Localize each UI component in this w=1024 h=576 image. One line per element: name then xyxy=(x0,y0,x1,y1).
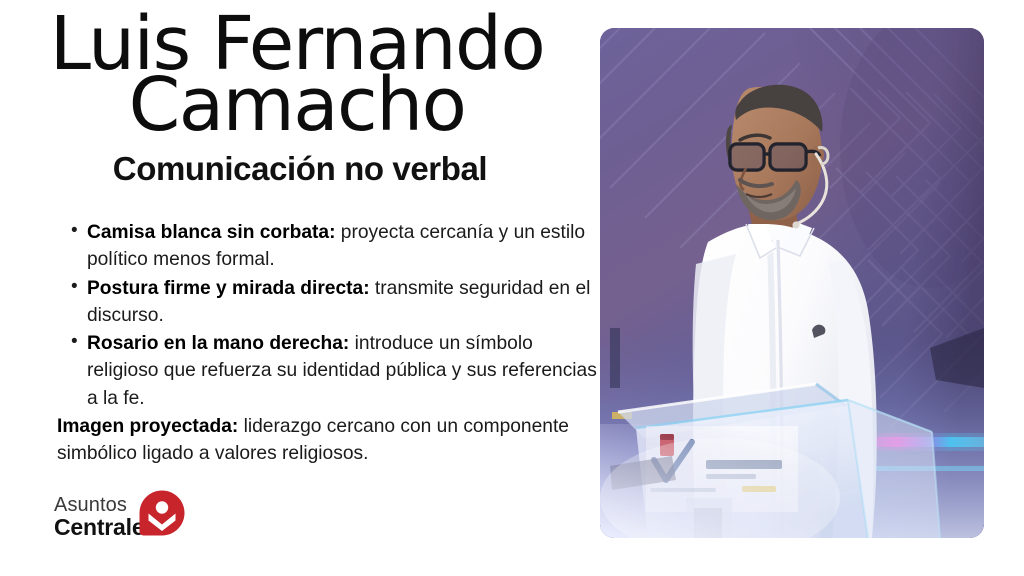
bullet-lead: Rosario en la mano derecha: xyxy=(87,333,349,354)
bullet-list: Camisa blanca sin corbata: proyecta cerc… xyxy=(57,219,602,412)
brand-logo: Asuntos Centrales xyxy=(54,489,244,545)
body-content: Camisa blanca sin corbata: proyecta cerc… xyxy=(57,219,602,467)
speaker-photo xyxy=(600,28,984,538)
pin-mark-icon xyxy=(138,489,186,537)
list-item: Camisa blanca sin corbata: proyecta cerc… xyxy=(87,219,602,274)
list-item: Postura firme y mirada directa: transmit… xyxy=(87,275,602,330)
content-column: Luis Fernando Camacho Comunicación no ve… xyxy=(0,0,600,576)
closing-lead: Imagen proyectada: xyxy=(57,416,238,437)
bullet-lead: Postura firme y mirada directa: xyxy=(87,278,370,299)
slide-subtitle: Comunicación no verbal xyxy=(0,150,600,188)
slide-root: Luis Fernando Camacho Comunicación no ve… xyxy=(0,0,1024,576)
list-item: Rosario en la mano derecha: introduce un… xyxy=(87,330,602,412)
page-title: Luis Fernando Camacho xyxy=(0,14,600,135)
bullet-lead: Camisa blanca sin corbata: xyxy=(87,222,335,243)
closing-paragraph: Imagen proyectada: liderazgo cercano con… xyxy=(57,413,602,468)
